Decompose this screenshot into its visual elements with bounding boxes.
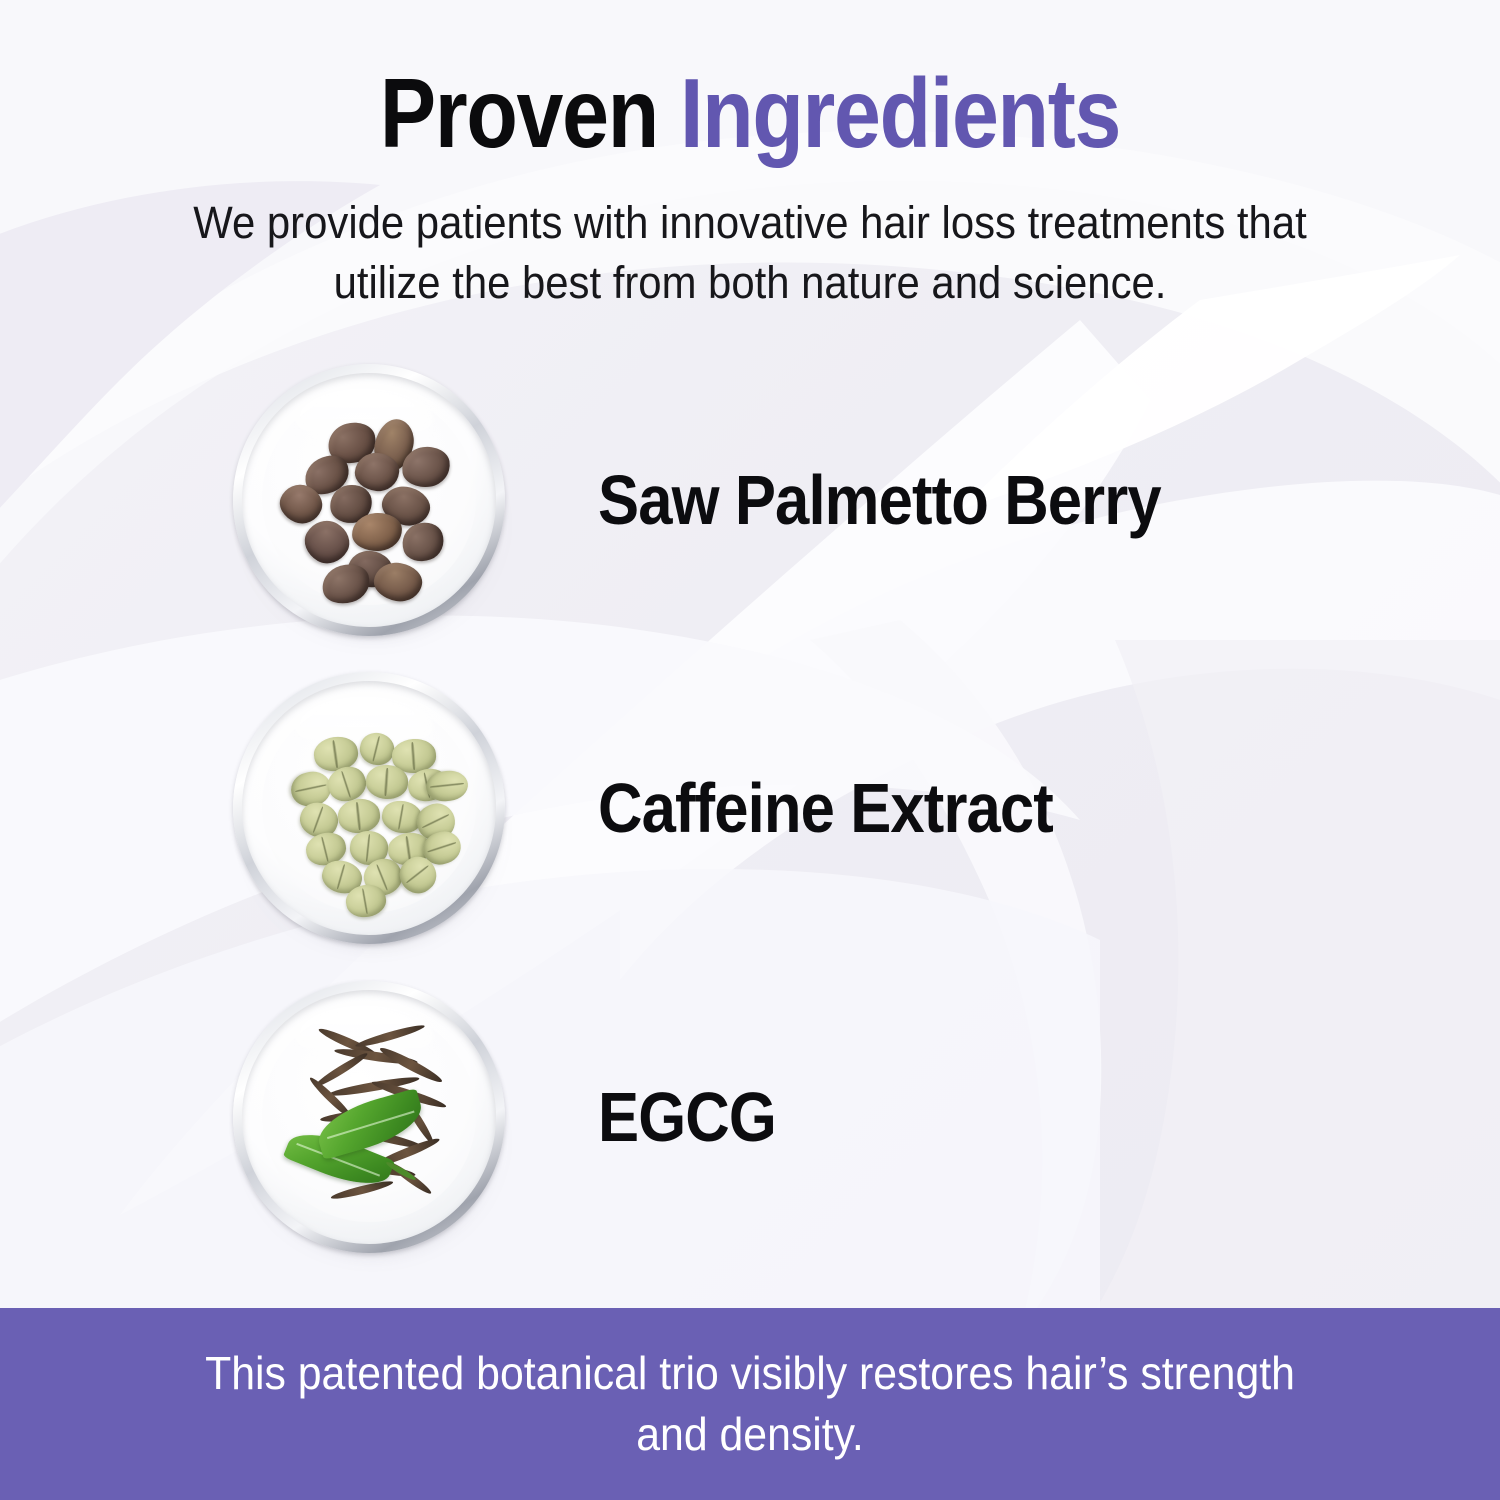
page-title-accent: Ingredients [658, 58, 1120, 168]
ingredient-label-caffeine-extract: Caffeine Extract [598, 768, 1053, 848]
dish-inner-well [242, 373, 496, 627]
page-title-primary: Proven [380, 58, 658, 168]
petri-dish-saw-palmetto-berries [233, 364, 505, 636]
dish-glass-rim [233, 672, 505, 944]
dish-inner-well [242, 990, 496, 1244]
footer-banner: This patented botanical trio visibly res… [0, 1308, 1500, 1500]
footer-banner-text: This patented botanical trio visibly res… [178, 1343, 1322, 1464]
green-coffee-beans-group [242, 681, 496, 935]
petri-dish-green-tea-leaves [233, 981, 505, 1253]
dish-glass-rim [233, 981, 505, 1253]
ingredient-label-saw-palmetto-berry: Saw Palmetto Berry [598, 460, 1161, 540]
heading-block: Proven Ingredients [0, 62, 1500, 165]
infographic-content: Proven Ingredients We provide patients w… [0, 0, 1500, 1500]
subtitle-text: We provide patients with innovative hair… [192, 193, 1308, 313]
ingredient-row: Saw Palmetto Berry [0, 364, 1500, 636]
dish-glass-rim [233, 364, 505, 636]
petri-dish-green-coffee-beans [233, 672, 505, 944]
ingredient-row: EGCG [0, 981, 1500, 1253]
saw-palmetto-berries-group [242, 373, 496, 627]
dish-inner-well [242, 681, 496, 935]
page-title: Proven Ingredients [105, 62, 1395, 165]
ingredient-row: Caffeine Extract [0, 672, 1500, 944]
ingredient-label-egcg: EGCG [598, 1077, 776, 1157]
tea-leaves-group [242, 990, 496, 1244]
